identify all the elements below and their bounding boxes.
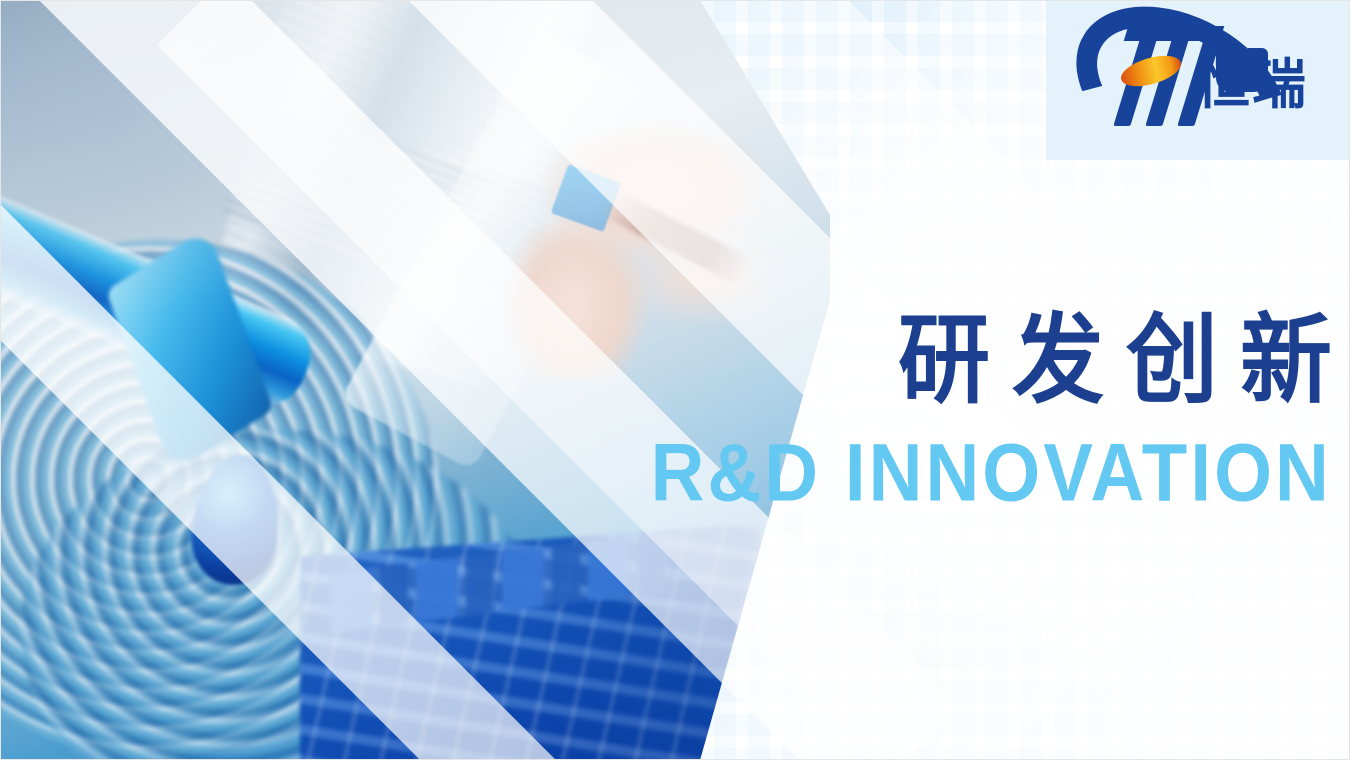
- logo-plate: 恒瑞: [1046, 0, 1350, 160]
- rd-innovation-banner: 研发创新 R&D INNOVATION 恒瑞: [0, 0, 1350, 760]
- headline-english: R&D INNOVATION: [651, 432, 1332, 514]
- headline-block: 研发创新 R&D INNOVATION: [664, 318, 1332, 505]
- headline-chinese: 研发创新: [664, 312, 1350, 410]
- logo-company-name: 恒瑞: [1196, 58, 1308, 112]
